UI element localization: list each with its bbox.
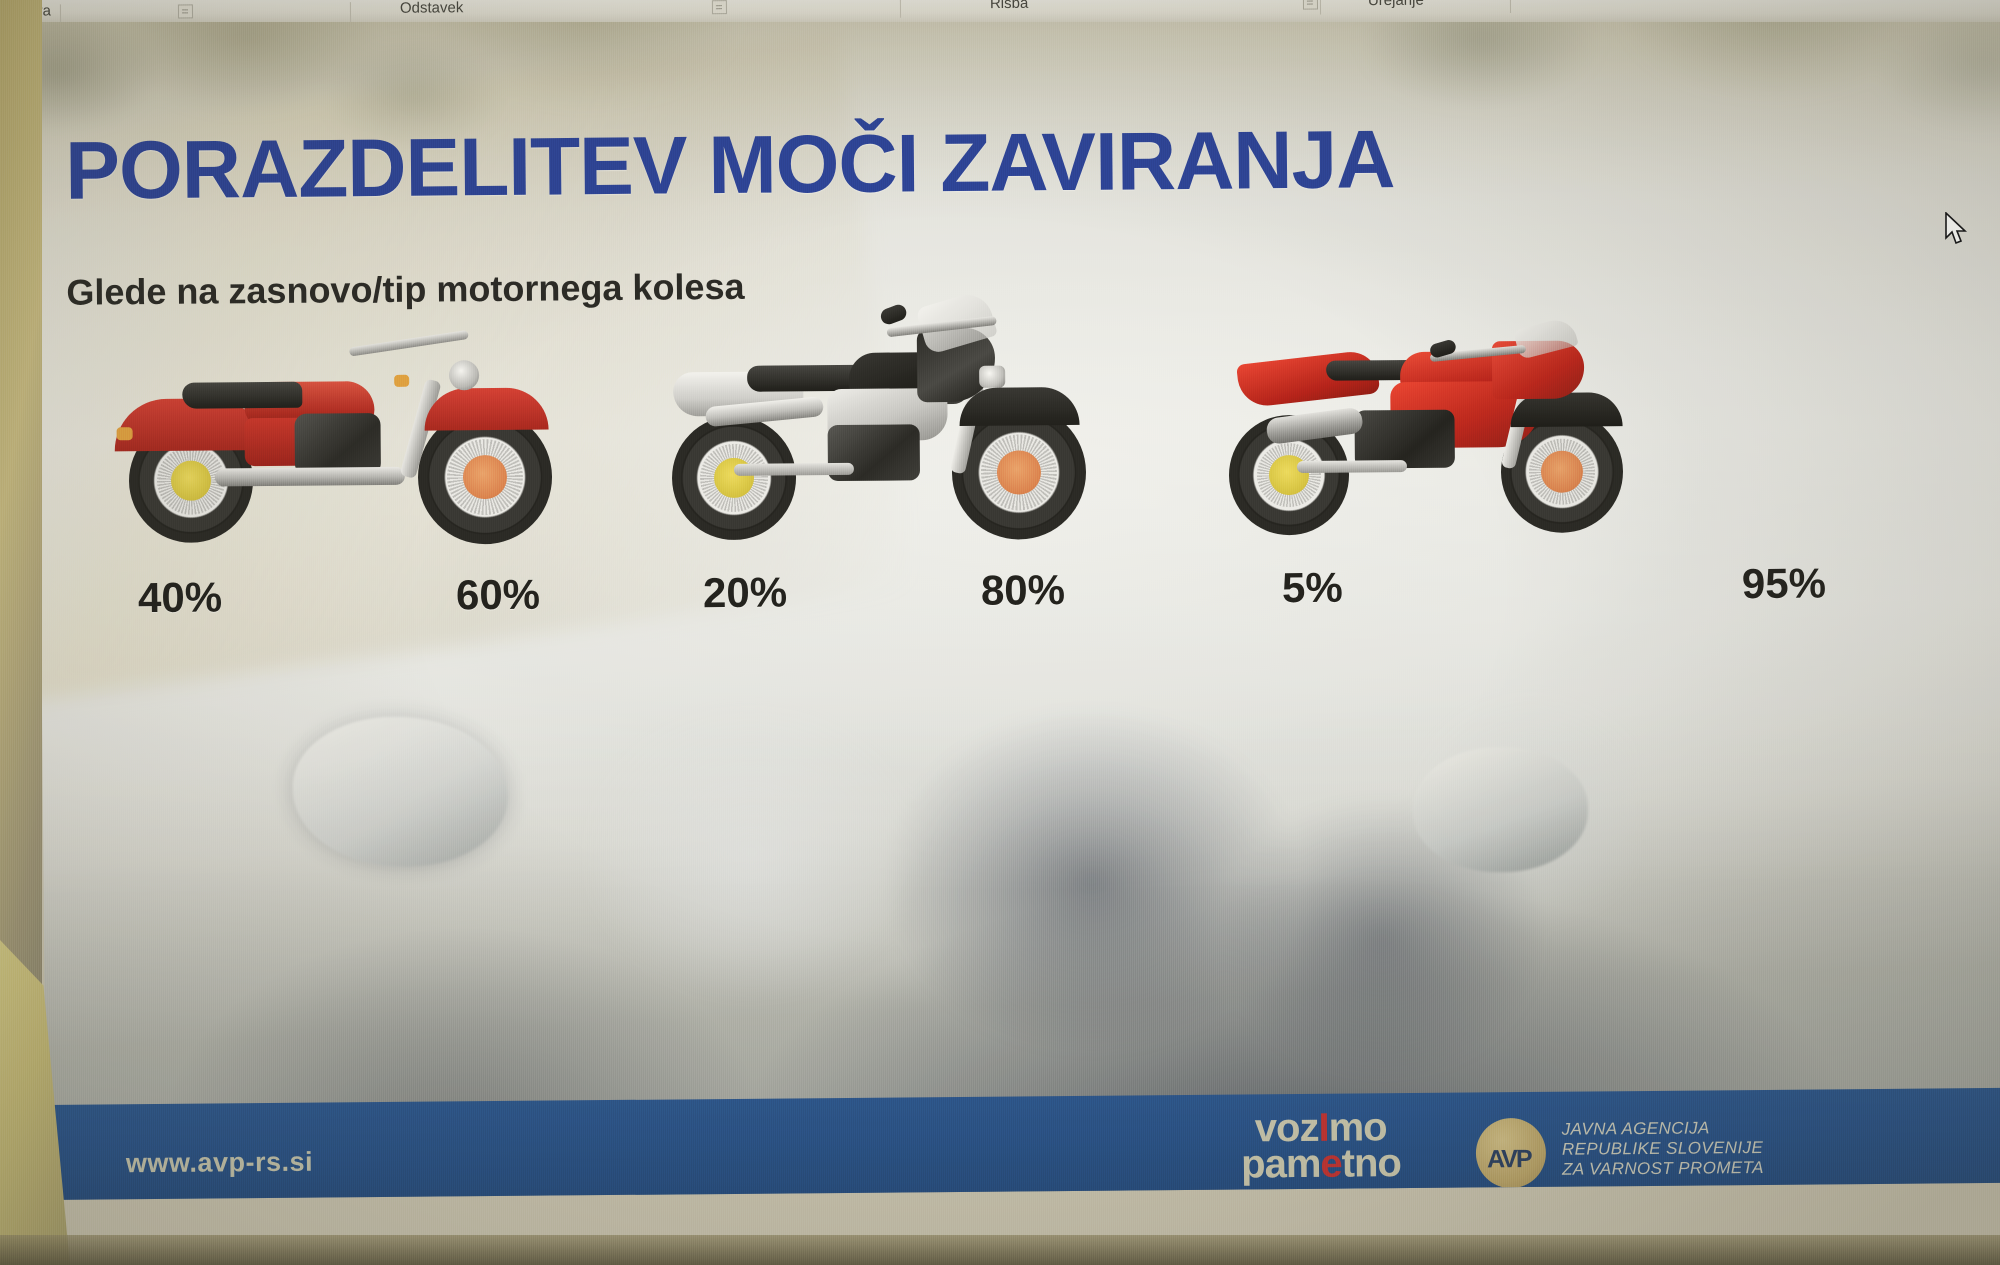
bike-group-adventure: 20% 80% <box>659 311 1102 645</box>
footer-website-url[interactable]: www.avp-rs.si <box>126 1147 313 1180</box>
adventure-brake-distribution: 20% 80% <box>661 566 1102 630</box>
photographed-monitor-screen: Pisava Odstavek Risba Urejanje PORAZDELI… <box>0 0 2000 1265</box>
mouse-pointer-icon <box>1944 212 1970 246</box>
slide-footer-band: www.avp-rs.si vozImo pametno AGENCIJA ZA… <box>45 1088 2000 1200</box>
adventure-headlight <box>979 366 1005 388</box>
sport-brake-distribution: 5% 95% <box>1206 561 1677 625</box>
avp-name-line2: REPUBLIKE SLOVENIJE <box>1562 1138 1764 1160</box>
vozimo-pametno-tagline: AGENCIJA ZA VARNOST PROMETA <box>1206 1187 1436 1200</box>
vp-pam-text: pam <box>1241 1142 1321 1187</box>
ribbon-group-odstavek[interactable]: Odstavek <box>400 0 464 17</box>
monitor-bezel-bottom <box>0 1235 2000 1265</box>
avp-name-line1: JAVNA AGENCIJA <box>1562 1118 1764 1140</box>
ribbon-group-urejanje[interactable]: Urejanje <box>1368 0 1424 9</box>
powerpoint-ribbon-strip: Pisava Odstavek Risba Urejanje <box>0 0 2000 22</box>
cruiser-indicator-icon <box>117 427 133 440</box>
adventure-front-percent: 80% <box>981 566 1065 615</box>
slide-title: PORAZDELITEV MOČI ZAVIRANJA <box>65 113 1395 219</box>
dialog-launcher-pisava-icon[interactable] <box>178 4 193 18</box>
bike-group-cruiser: 40% 60% <box>94 315 577 649</box>
cruiser-indicator-front-icon <box>394 375 409 387</box>
vp-tno-text: tno <box>1341 1141 1401 1186</box>
cruiser-handlebar <box>349 330 469 357</box>
cruiser-front-fender <box>424 388 548 431</box>
vozimo-pametno-logo: vozImo pametno AGENCIJA ZA VARNOST PROME… <box>1206 1109 1437 1200</box>
cruiser-front-percent: 60% <box>456 571 540 620</box>
slide-subtitle: Glede na zasnovo/tip motornega kolesa <box>66 266 745 314</box>
background-mirror-right <box>1412 746 1588 873</box>
presentation-slide: PORAZDELITEV MOČI ZAVIRANJA Glede na zas… <box>36 3 2000 1200</box>
dialog-launcher-risba-icon[interactable] <box>1303 0 1318 10</box>
adventure-motorcycle <box>659 311 1101 545</box>
cruiser-headlight <box>449 360 479 390</box>
avp-agency-name: JAVNA AGENCIJA REPUBLIKE SLOVENIJE ZA VA… <box>1562 1118 1764 1180</box>
avp-badge-icon: AVP <box>1476 1118 1547 1189</box>
cruiser-exhaust <box>215 467 405 487</box>
ribbon-group-risba[interactable]: Risba <box>990 0 1028 12</box>
dialog-launcher-odstavek-icon[interactable] <box>712 0 727 14</box>
sport-rear-percent: 5% <box>1282 564 1343 613</box>
adventure-rear-percent: 20% <box>703 568 787 617</box>
cruiser-seat <box>182 382 302 409</box>
sport-front-percent: 95% <box>1742 559 1826 608</box>
vp-e-red-text: e <box>1320 1142 1342 1186</box>
cruiser-brake-distribution: 40% 60% <box>96 570 577 634</box>
cruiser-rear-percent: 40% <box>138 573 222 622</box>
motorcycle-comparison-row: 40% 60% <box>39 303 2000 650</box>
avp-name-line3: ZA VARNOST PROMETA <box>1562 1158 1764 1180</box>
sport-motorcycle <box>1204 306 1676 540</box>
adventure-rear-tyre <box>671 415 796 540</box>
cruiser-motorcycle <box>94 315 576 549</box>
avp-agency-logo: AVP JAVNA AGENCIJA REPUBLIKE SLOVENIJE Z… <box>1476 1111 1877 1194</box>
vozimo-pametno-line2: pametno <box>1206 1145 1436 1183</box>
sport-swingarm <box>1297 460 1407 473</box>
avp-mark-text: AVP <box>1487 1145 1531 1174</box>
adventure-swingarm <box>734 463 854 476</box>
background-foliage-right <box>1340 3 2000 289</box>
bike-group-sport: 5% 95% <box>1204 306 1677 640</box>
